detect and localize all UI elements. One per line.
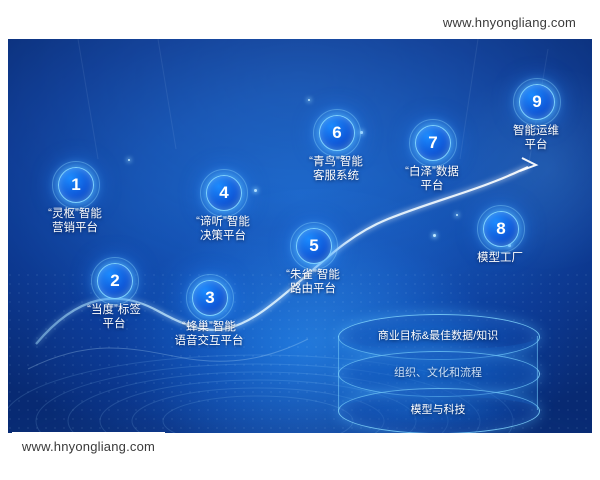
- foundation-layer-1-label: 商业目标&最佳数据/知识: [338, 327, 538, 343]
- node-3-badge: 3: [192, 280, 228, 316]
- particle: [456, 214, 458, 216]
- node-9-badge: 9: [519, 84, 555, 120]
- watermark-top-text: www.hnyongliang.com: [443, 15, 576, 30]
- foundation-layer-2-label: 组织、文化和流程: [338, 364, 538, 380]
- node-8-badge: 8: [483, 211, 519, 247]
- particle: [308, 99, 310, 101]
- node-4-badge: 4: [206, 175, 242, 211]
- particle: [254, 189, 257, 192]
- foundation-stack: 商业目标&最佳数据/知识 组织、文化和流程 模型与科技: [338, 314, 538, 432]
- node-8-label: 模型工厂: [440, 251, 560, 265]
- node-3-label: “蜂巢”智能 语音交互平台: [149, 320, 269, 348]
- particle: [433, 234, 436, 237]
- node-7-badge: 7: [415, 125, 451, 161]
- particle: [128, 159, 130, 161]
- foundation-layer-3-label: 模型与科技: [338, 401, 538, 417]
- node-4-label: “谛听”智能 决策平台: [163, 215, 283, 243]
- watermark-bottom: www.hnyongliang.com: [12, 432, 165, 461]
- watermark-top: www.hnyongliang.com: [432, 7, 587, 37]
- foundation-layer-3[interactable]: 模型与科技: [338, 388, 538, 433]
- node-9-label: 智能运维 平台: [476, 124, 592, 152]
- diagram-canvas: 1 “灵枢”智能 营销平台 2 “当度”标签 平台 3 “蜂巢”智能 语音交互平…: [8, 39, 592, 433]
- node-5-label: “朱雀”智能 路由平台: [253, 268, 373, 296]
- node-2-badge: 2: [97, 263, 133, 299]
- node-7-label: “白泽”数据 平台: [372, 165, 492, 193]
- node-1-label: “灵枢”智能 营销平台: [15, 207, 135, 235]
- screenshot-root: 1 “灵枢”智能 营销平台 2 “当度”标签 平台 3 “蜂巢”智能 语音交互平…: [0, 0, 600, 480]
- node-1-badge: 1: [58, 167, 94, 203]
- watermark-bottom-text: www.hnyongliang.com: [22, 439, 155, 454]
- node-6-badge: 6: [319, 115, 355, 151]
- node-5-badge: 5: [296, 228, 332, 264]
